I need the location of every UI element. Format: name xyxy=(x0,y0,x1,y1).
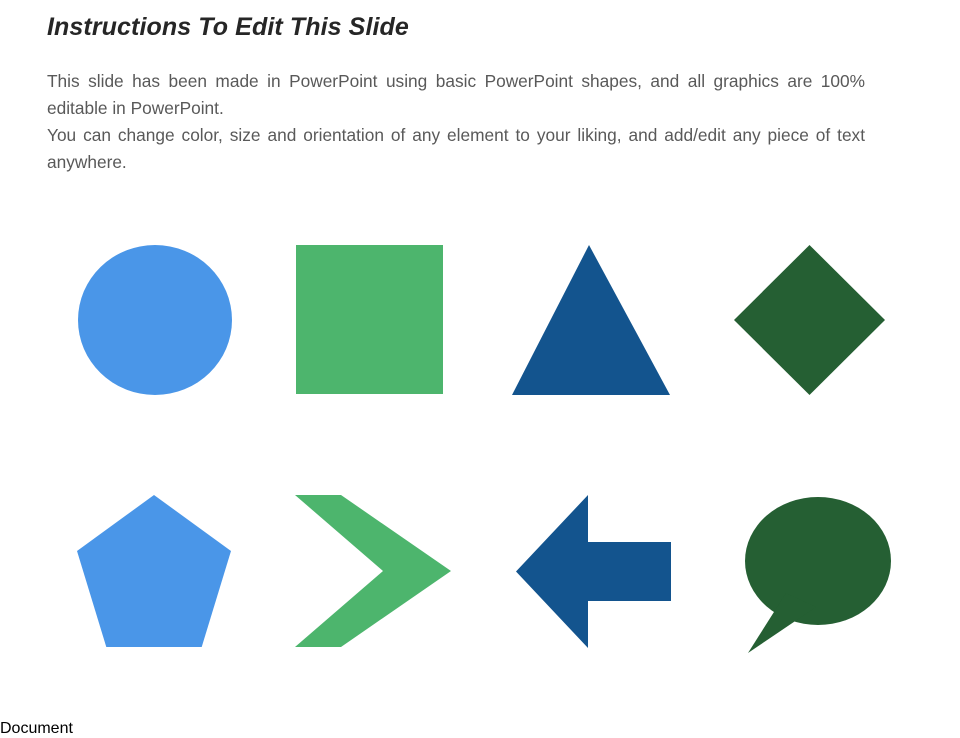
slide-canvas: Instructions To Edit This Slide This sli… xyxy=(0,0,960,720)
body-text-block: This slide has been made in PowerPoint u… xyxy=(47,68,865,176)
page-title: Instructions To Edit This Slide xyxy=(47,11,907,43)
pentagon-shape[interactable] xyxy=(77,495,231,647)
chevron-right-shape[interactable] xyxy=(295,495,451,647)
arrow-left-shape[interactable] xyxy=(516,495,671,648)
circle-shape[interactable] xyxy=(78,245,232,395)
triangle-shape[interactable] xyxy=(512,245,670,395)
body-paragraph-2: You can change color, size and orientati… xyxy=(47,122,865,176)
body-paragraph-1: This slide has been made in PowerPoint u… xyxy=(47,68,865,122)
speech-bubble-shape[interactable] xyxy=(738,495,891,653)
square-shape[interactable] xyxy=(296,245,443,394)
diamond-shape[interactable] xyxy=(734,245,885,395)
